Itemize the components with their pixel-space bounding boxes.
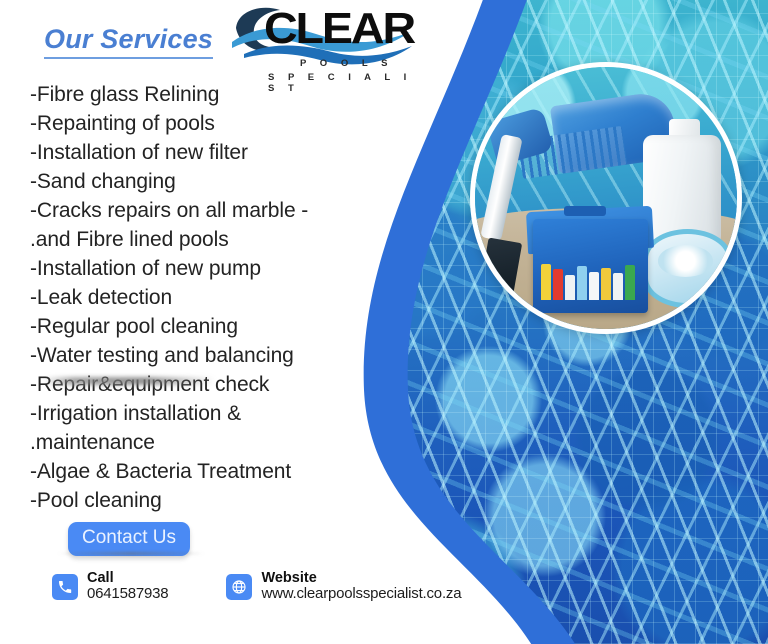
logo-tagline-pools: P O O L S — [300, 58, 393, 69]
globe-icon — [226, 574, 252, 600]
bottle — [541, 264, 551, 301]
brand-logo: CLEAR P O O L S S P E C I A L I S T — [228, 2, 418, 90]
service-item: -Pool cleaning — [30, 486, 400, 515]
contact-website-label: Website — [261, 570, 461, 586]
floater-lid — [658, 245, 713, 276]
phone-icon — [52, 574, 78, 600]
toolbox-handle — [564, 206, 606, 216]
bottle — [589, 272, 599, 301]
logo-wordmark: CLEAR — [264, 4, 414, 54]
service-item: -Fibre glass Relining — [30, 80, 400, 109]
equipment-photo-inset — [470, 62, 742, 334]
contact-call-label: Call — [87, 570, 168, 586]
service-item: -Leak detection — [30, 283, 400, 312]
service-item: -Regular pool cleaning — [30, 312, 400, 341]
service-item: -Sand changing — [30, 167, 400, 196]
service-item: -Installation of new pump — [30, 254, 400, 283]
service-item: -Installation of new filter — [30, 138, 400, 167]
service-item: .maintenance — [30, 428, 400, 457]
bottle — [565, 275, 575, 301]
contact-info-group: Call 0641587938 Website www.clearpoolssp… — [52, 570, 461, 603]
service-item: -Irrigation installation & — [30, 399, 400, 428]
bottle — [601, 268, 611, 300]
bottle — [577, 266, 587, 300]
contact-call[interactable]: Call 0641587938 — [52, 570, 168, 603]
service-item: -Repair&equipment check — [30, 370, 400, 399]
pool-art-panel — [338, 0, 768, 644]
contact-website-value: www.clearpoolsspecialist.co.za — [261, 586, 461, 603]
flyer-canvas: Our Services CLEAR P O O L S S P E C I A… — [0, 0, 768, 644]
service-item: -Water testing and balancing — [30, 341, 400, 370]
contact-website[interactable]: Website www.clearpoolsspecialist.co.za — [226, 570, 461, 603]
bottle — [553, 269, 563, 301]
service-item: -Repainting of pools — [30, 109, 400, 138]
services-list: -Fibre glass Relining -Repainting of poo… — [30, 80, 400, 515]
service-item: -Cracks repairs on all marble - — [30, 196, 400, 225]
contact-website-text: Website www.clearpoolsspecialist.co.za — [261, 570, 461, 603]
service-item: .and Fibre lined pools — [30, 225, 400, 254]
bottle — [613, 273, 623, 300]
chemical-bottles-group — [541, 264, 635, 301]
page-title: Our Services — [44, 24, 213, 59]
contact-us-button[interactable]: Contact Us — [68, 522, 190, 556]
button-shadow-smudge — [58, 552, 204, 555]
contact-call-value: 0641587938 — [87, 586, 168, 603]
bottle — [625, 265, 635, 300]
contact-call-text: Call 0641587938 — [87, 570, 168, 603]
service-item: -Algae & Bacteria Treatment — [30, 457, 400, 486]
